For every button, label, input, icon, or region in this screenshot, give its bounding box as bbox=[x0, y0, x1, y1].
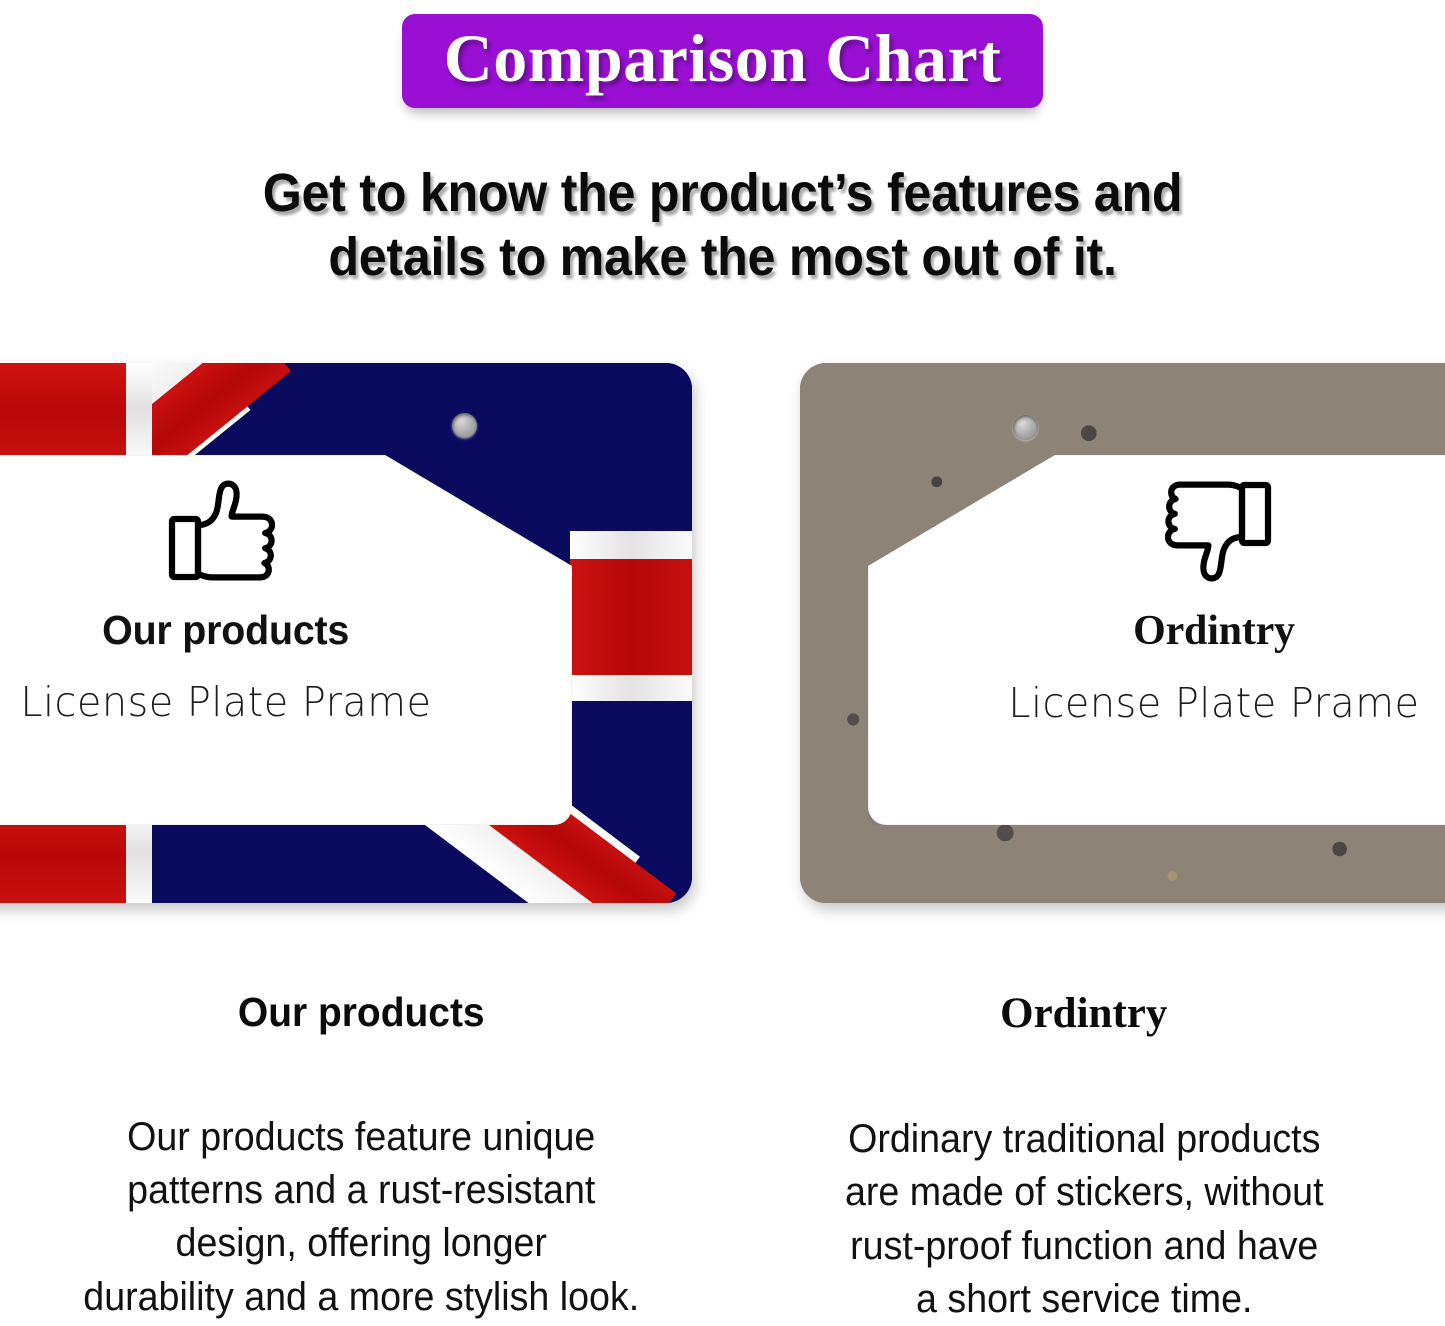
description-column-our-products: Our products Our products feature unique… bbox=[0, 990, 723, 1326]
comparison-description-row: Our products Our products feature unique… bbox=[0, 990, 1445, 1326]
thumbs-down-icon bbox=[1156, 477, 1272, 585]
mounting-hole-icon bbox=[1013, 415, 1038, 440]
description-body-our-products: Our products feature unique patterns and… bbox=[46, 1111, 676, 1324]
product-image-our-products: Our products License Plate Prame bbox=[0, 363, 692, 903]
subtitle: Get to know the product’s features and d… bbox=[51, 162, 1395, 289]
title-banner: Comparison Chart bbox=[402, 14, 1044, 108]
subtitle-line-2: details to make the most out of it. bbox=[51, 226, 1395, 290]
card-subtitle-ordinary: License Plate Prame bbox=[1008, 679, 1419, 727]
union-jack-red-band-right bbox=[570, 559, 692, 675]
description-column-ordinary: Ordintry Ordinary traditional products a… bbox=[723, 990, 1445, 1326]
page-title: Comparison Chart bbox=[444, 20, 1002, 96]
union-jack-red-band-top-left bbox=[0, 363, 126, 459]
thumbs-up-icon bbox=[168, 477, 284, 585]
card-subtitle-our-products: License Plate Prame bbox=[20, 678, 431, 726]
mounting-hole-icon bbox=[452, 413, 477, 438]
subtitle-line-1: Get to know the product’s features and bbox=[51, 162, 1395, 226]
description-heading-our-products: Our products bbox=[43, 990, 680, 1035]
card-title-our-products: Our products bbox=[103, 607, 350, 654]
title-banner-container: Comparison Chart bbox=[0, 14, 1445, 108]
card-title-ordinary: Ordintry bbox=[1133, 607, 1295, 655]
description-heading-ordinary: Ordintry bbox=[749, 990, 1420, 1037]
product-comparison-images: Our products License Plate Prame Ordintr… bbox=[0, 363, 1445, 908]
product-image-ordinary: Ordintry License Plate Prame bbox=[800, 363, 1445, 903]
description-body-ordinary: Ordinary traditional products are made o… bbox=[769, 1113, 1399, 1326]
